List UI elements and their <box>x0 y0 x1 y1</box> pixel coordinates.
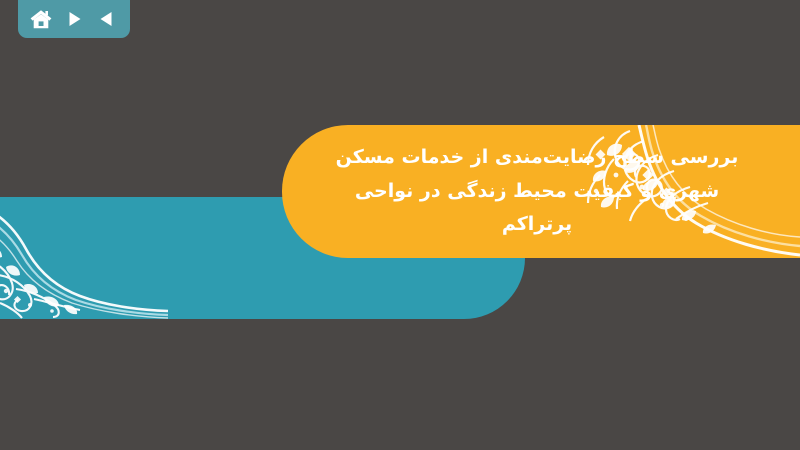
orange-title-band <box>282 125 800 258</box>
arabesque-corner-ornament-teal <box>0 197 170 319</box>
home-icon <box>29 8 53 31</box>
triangle-right-icon <box>64 9 84 29</box>
slide-navigation-bar <box>18 0 130 38</box>
slide-canvas: بررسی سطح رضایت‌مندی از خدمات مسکن شهری … <box>0 0 800 450</box>
home-button[interactable] <box>27 5 55 33</box>
arabesque-corner-ornament-orange <box>585 125 800 258</box>
triangle-left-icon <box>97 9 117 29</box>
previous-slide-button[interactable] <box>93 5 121 33</box>
next-slide-button[interactable] <box>60 5 88 33</box>
